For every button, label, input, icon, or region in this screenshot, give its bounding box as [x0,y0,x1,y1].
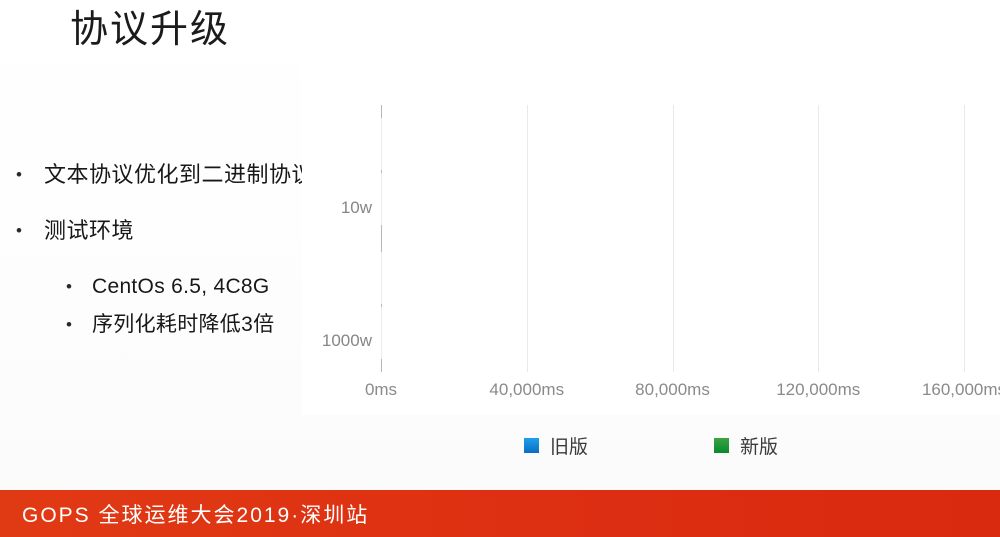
x-tick-label: 40,000ms [489,380,564,400]
bullet-dot-icon: • [12,216,26,246]
bar-new-1000w[interactable] [382,308,528,358]
x-tick-label: 0ms [365,380,397,400]
legend-label: 新版 [740,432,778,459]
x-tick-label: 120,000ms [776,380,860,400]
bullet-text: CentOs 6.5, 4C8G [92,272,270,302]
bar-old-1000w[interactable] [382,253,987,303]
x-tick-label: 160,000ms [922,380,1000,400]
gridline [818,105,819,372]
bar-old-10w[interactable] [382,119,398,169]
y-tick-label: 10w [341,198,372,218]
x-axis-tick-labels: 0ms40,000ms80,000ms120,000ms160,000ms [381,380,964,406]
conference-footer-banner: GOPS 全球运维大会2019·深圳站 [0,490,1000,537]
bullet-text: 文本协议优化到二进制协议 [44,160,314,190]
y-tick-label: 1000w [322,331,372,351]
bar-chart: 10w1000w 0ms40,000ms80,000ms120,000ms160… [302,58,1000,415]
chart-legend: 旧版 新版 [302,432,1000,459]
gridline [964,105,965,372]
bar-new-10w[interactable] [382,174,388,224]
legend-item-old[interactable]: 旧版 [524,432,588,459]
legend-swatch-icon [524,438,539,453]
legend-item-new[interactable]: 新版 [714,432,778,459]
slide-canvas: 协议升级 • 文本协议优化到二进制协议 • 测试环境 • CentOs 6.5,… [0,0,1000,537]
bullet-list: • 文本协议优化到二进制协议 • 测试环境 • CentOs 6.5, 4C8G… [0,160,340,348]
bullet-text: 序列化耗时降低3倍 [92,310,274,340]
bullet-dot-icon: • [12,160,26,190]
gridline [673,105,674,372]
bullet-dot-icon: • [62,272,76,302]
footer-text: GOPS 全球运维大会2019·深圳站 [22,499,369,529]
list-item: • 文本协议优化到二进制协议 [12,160,340,190]
legend-label: 旧版 [550,432,588,459]
x-tick-label: 80,000ms [635,380,710,400]
page-title: 协议升级 [70,8,230,54]
bullet-text: 测试环境 [44,216,134,246]
legend-swatch-icon [714,438,729,453]
chart-plot-area: 10w1000w [381,105,964,372]
list-item: • CentOs 6.5, 4C8G [62,272,340,302]
list-item: • 序列化耗时降低3倍 [62,310,340,340]
list-item: • 测试环境 [12,216,340,246]
bullet-dot-icon: • [62,310,76,340]
